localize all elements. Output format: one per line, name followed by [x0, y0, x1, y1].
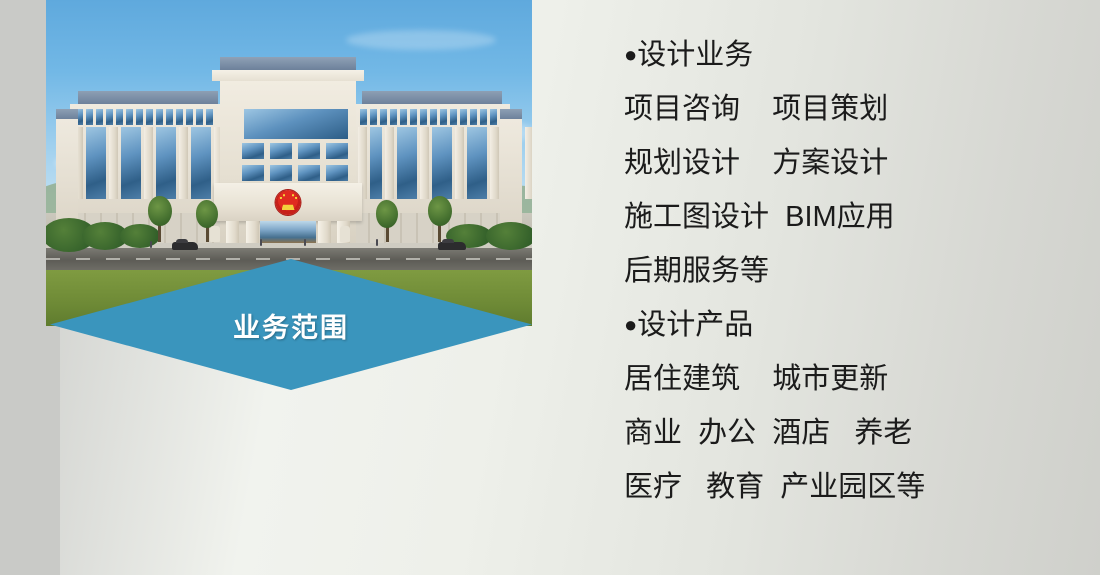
central-block — [212, 57, 364, 243]
shrub — [486, 222, 532, 250]
bullet-icon: ● — [624, 312, 637, 337]
list-item: 商业 办公 酒店 养老 — [624, 406, 1044, 460]
left-end-pavilion-roof — [56, 109, 78, 119]
list-item: 医疗 教育 产业园区等 — [624, 460, 1044, 514]
content-text-panel: ●设计业务 项目咨询 项目策划 规划设计 方案设计 施工图设计 BIM应用 后期… — [624, 28, 1044, 514]
pedestrian — [260, 239, 262, 246]
tree-canopy — [148, 196, 172, 226]
building-massing — [56, 57, 522, 243]
banner-label: 业务范围 — [233, 306, 349, 345]
stone-lion — [340, 226, 350, 242]
tree-canopy — [376, 200, 398, 228]
heading-design-business: ●设计业务 — [624, 28, 1044, 82]
right-wing-attic-windows — [360, 109, 497, 125]
central-upper-glazing — [244, 109, 348, 139]
right-end-pavilion-roof — [500, 109, 522, 119]
list-item: 施工图设计 BIM应用 — [624, 190, 1044, 244]
left-wing-roof — [78, 91, 218, 104]
right-wing-roof — [362, 91, 502, 104]
tree-canopy — [196, 200, 218, 228]
shrub — [120, 224, 160, 248]
stone-lion — [210, 226, 220, 242]
national-emblem-icon — [276, 190, 301, 215]
pedestrian — [304, 239, 306, 246]
list-item: 规划设计 方案设计 — [624, 136, 1044, 190]
list-item: 居住建筑 城市更新 — [624, 352, 1044, 406]
pedestrian — [150, 241, 152, 248]
list-item: 项目咨询 项目策划 — [624, 82, 1044, 136]
pedestrian — [376, 239, 378, 246]
heading-text: 设计产品 — [637, 309, 753, 341]
entry-portico — [226, 221, 350, 243]
slide-canvas: 业务范围 ●设计业务 项目咨询 项目策划 规划设计 方案设计 施工图设计 BIM… — [0, 0, 1100, 575]
list-item: 后期服务等 — [624, 244, 1044, 298]
heading-design-products: ●设计产品 — [624, 298, 1044, 352]
heading-text: 设计业务 — [637, 39, 753, 71]
tree-canopy — [428, 196, 452, 226]
car — [172, 242, 198, 250]
car — [438, 242, 466, 250]
central-roof — [220, 57, 356, 71]
central-cornice — [212, 70, 364, 81]
left-wing-attic-windows — [76, 109, 213, 125]
cloud-shape — [346, 30, 496, 50]
bullet-icon: ● — [624, 42, 637, 67]
entry-glazing — [260, 221, 316, 243]
